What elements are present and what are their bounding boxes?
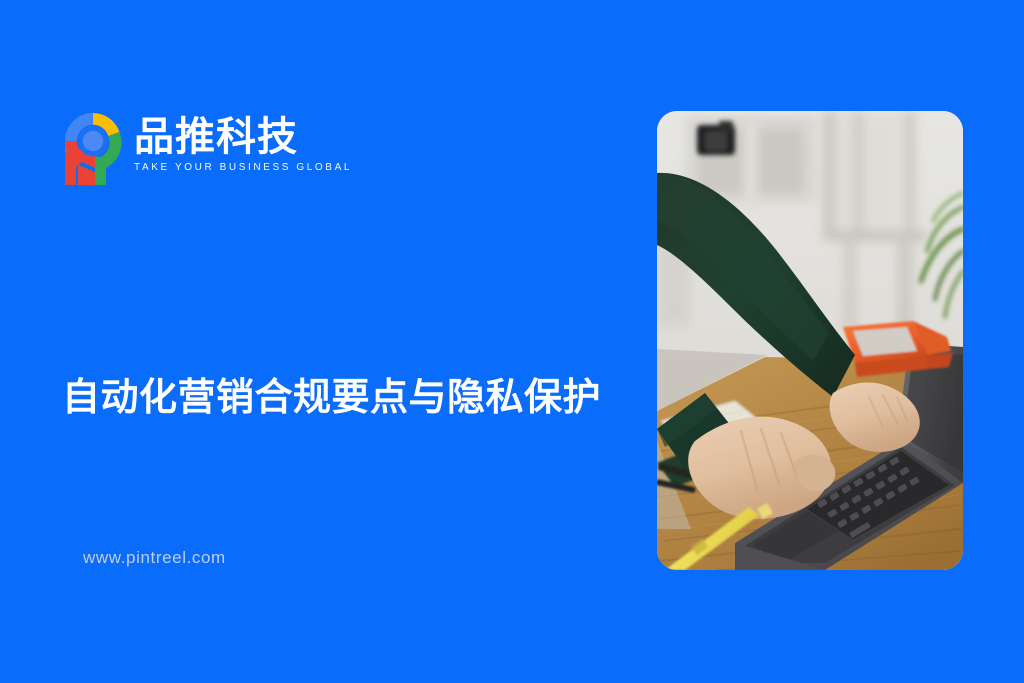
brand-tagline: TAKE YOUR BUSINESS GLOBAL (134, 162, 352, 174)
brand-name: 品推科技 (134, 116, 352, 159)
brand-lockup[interactable]: 品推科技 TAKE YOUR BUSINESS GLOBAL (62, 110, 352, 188)
brand-text: 品推科技 TAKE YOUR BUSINESS GLOBAL (134, 110, 352, 174)
social-card: 品推科技 TAKE YOUR BUSINESS GLOBAL 自动化营销合规要点… (0, 0, 1024, 683)
hero-photo (657, 111, 963, 570)
pintreel-monogram-icon (62, 110, 124, 188)
site-url[interactable]: www.pintreel.com (83, 548, 226, 568)
page-title: 自动化营销合规要点与隐私保护 (62, 373, 622, 423)
